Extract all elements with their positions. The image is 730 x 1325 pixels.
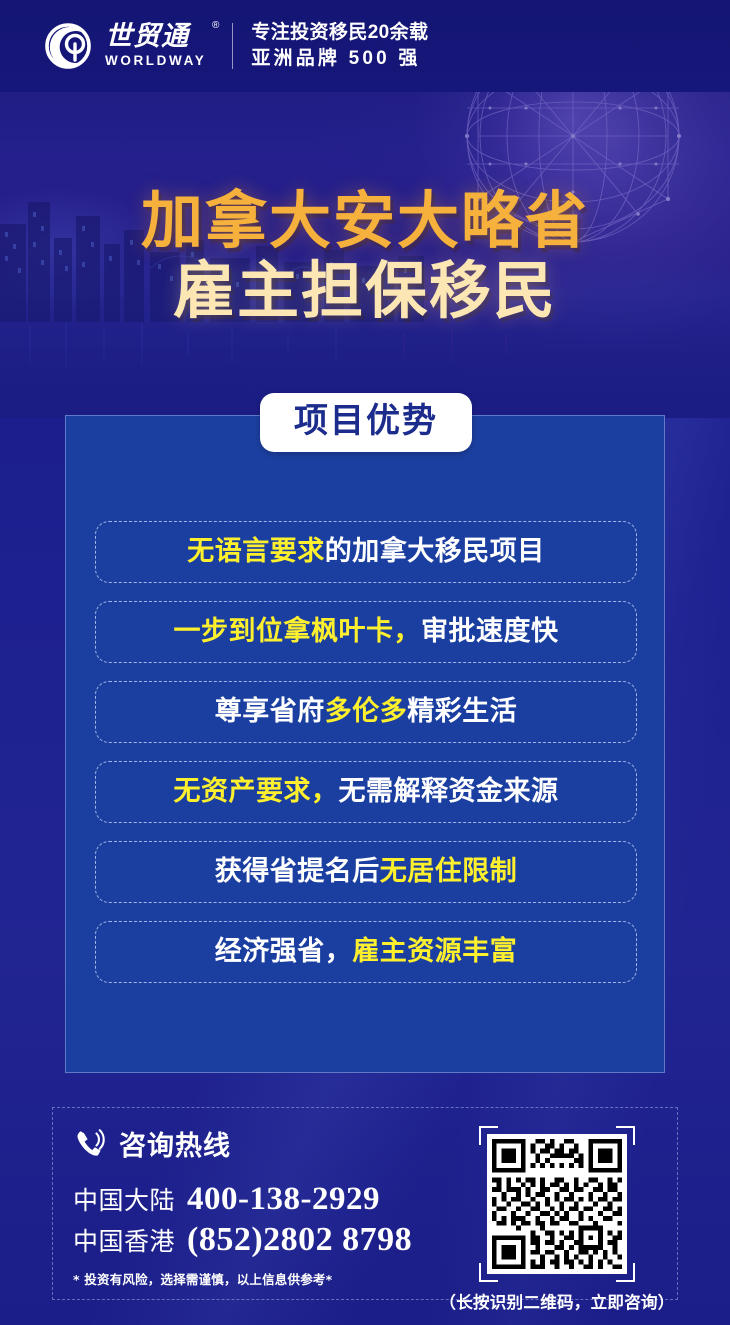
promotional-poster: 加拿大安大略省 雇主担保移民 世贸通 WORLDWAY ® 专注投资移民20余载…	[0, 0, 730, 1325]
list-item[interactable]: 获得省提名后无居住限制	[95, 841, 637, 903]
benefit-highlight: 无语言要求	[187, 536, 325, 567]
benefit-text: 经济强省，雇主资源丰富	[215, 936, 518, 968]
benefit-plain: 审批速度快	[421, 616, 559, 647]
benefit-highlight: 雇主资源丰富	[352, 936, 517, 967]
corner-bracket-top-left-icon	[479, 1126, 498, 1145]
phone-row-hongkong[interactable]: 中国香港 (852)2802 8798	[73, 1221, 412, 1259]
benefit-text: 一步到位拿枫叶卡，审批速度快	[174, 616, 559, 648]
logo-wordmark: 世贸通 WORLDWAY ®	[105, 23, 206, 69]
phone-number-value[interactable]: (852)2802 8798	[187, 1221, 412, 1259]
benefit-suffix: 精彩生活	[407, 696, 517, 727]
benefit-highlight: 无居住限制	[380, 856, 518, 887]
hotline-label: 咨询热线	[119, 1124, 231, 1163]
phone-number-value[interactable]: 400-138-2929	[187, 1181, 380, 1218]
logo-english-name: WORLDWAY	[105, 53, 206, 69]
tagline-line-1: 专注投资移民20余载	[251, 20, 428, 46]
qr-code-block[interactable]: （长按识别二维码，立即咨询）	[457, 1126, 657, 1313]
list-item[interactable]: 无语言要求的加拿大移民项目	[95, 521, 637, 583]
phone-region-label: 中国香港	[73, 1222, 175, 1258]
list-item[interactable]: 尊享省府多伦多精彩生活	[95, 681, 637, 743]
contact-footer: 咨询热线 中国大陆 400-138-2929 中国香港 (852)2802 87…	[52, 1107, 678, 1300]
header-divider	[232, 23, 233, 69]
phone-row-mainland[interactable]: 中国大陆 400-138-2929	[73, 1181, 412, 1218]
advantages-panel: 项目优势 无语言要求的加拿大移民项目 一步到位拿枫叶卡，审批速度快 尊享省府多伦…	[65, 415, 665, 1073]
disclaimer-text: * 投资有风险，选择需谨慎，以上信息供参考*	[73, 1269, 332, 1288]
benefit-plain: 的加拿大移民项目	[325, 536, 545, 567]
phone-numbers-list: 中国大陆 400-138-2929 中国香港 (852)2802 8798	[73, 1181, 412, 1262]
benefit-prefix: 尊享省府	[215, 696, 325, 727]
registered-trademark-icon: ®	[212, 20, 219, 31]
qr-code-icon[interactable]	[487, 1134, 627, 1274]
title-line-1: 加拿大安大略省	[0, 186, 730, 256]
tagline-line-2: 亚洲品牌 500 强	[251, 46, 428, 72]
benefit-plain: 无需解释资金来源	[339, 776, 559, 807]
list-item[interactable]: 一步到位拿枫叶卡，审批速度快	[95, 601, 637, 663]
benefits-list: 无语言要求的加拿大移民项目 一步到位拿枫叶卡，审批速度快 尊享省府多伦多精彩生活…	[95, 521, 637, 983]
corner-bracket-top-right-icon	[616, 1126, 635, 1145]
section-badge: 项目优势	[260, 393, 472, 452]
corner-bracket-bottom-left-icon	[479, 1263, 498, 1282]
logo-chinese-name: 世贸通	[105, 23, 206, 51]
page-title: 加拿大安大略省 雇主担保移民	[0, 186, 730, 326]
phone-handset-icon	[73, 1127, 107, 1161]
brand-tagline: 专注投资移民20余载 亚洲品牌 500 强	[251, 20, 428, 71]
benefit-prefix: 经济强省，	[215, 936, 353, 967]
qr-frame	[479, 1126, 635, 1282]
benefit-prefix: 获得省提名后	[215, 856, 380, 887]
brand-logo[interactable]: 世贸通 WORLDWAY ®	[44, 20, 206, 72]
benefit-highlight: 多伦多	[325, 696, 408, 727]
brand-header: 世贸通 WORLDWAY ® 专注投资移民20余载 亚洲品牌 500 强	[0, 0, 730, 92]
benefit-highlight: 无资产要求，	[174, 776, 339, 807]
list-item[interactable]: 无资产要求，无需解释资金来源	[95, 761, 637, 823]
benefit-text: 无资产要求，无需解释资金来源	[174, 776, 559, 808]
qr-caption: （长按识别二维码，立即咨询）	[439, 1289, 674, 1313]
title-line-2: 雇主担保移民	[0, 256, 730, 326]
benefit-text: 获得省提名后无居住限制	[215, 856, 518, 888]
hotline-header: 咨询热线	[73, 1124, 231, 1163]
benefit-text: 无语言要求的加拿大移民项目	[187, 536, 545, 568]
section-badge-row: 项目优势	[66, 393, 666, 452]
list-item[interactable]: 经济强省，雇主资源丰富	[95, 921, 637, 983]
corner-bracket-bottom-right-icon	[616, 1263, 635, 1282]
benefit-highlight: 一步到位拿枫叶卡，	[174, 616, 422, 647]
benefit-text: 尊享省府多伦多精彩生活	[215, 696, 518, 728]
phone-region-label: 中国大陆	[73, 1181, 175, 1217]
worldway-swirl-logo-icon	[44, 20, 96, 72]
